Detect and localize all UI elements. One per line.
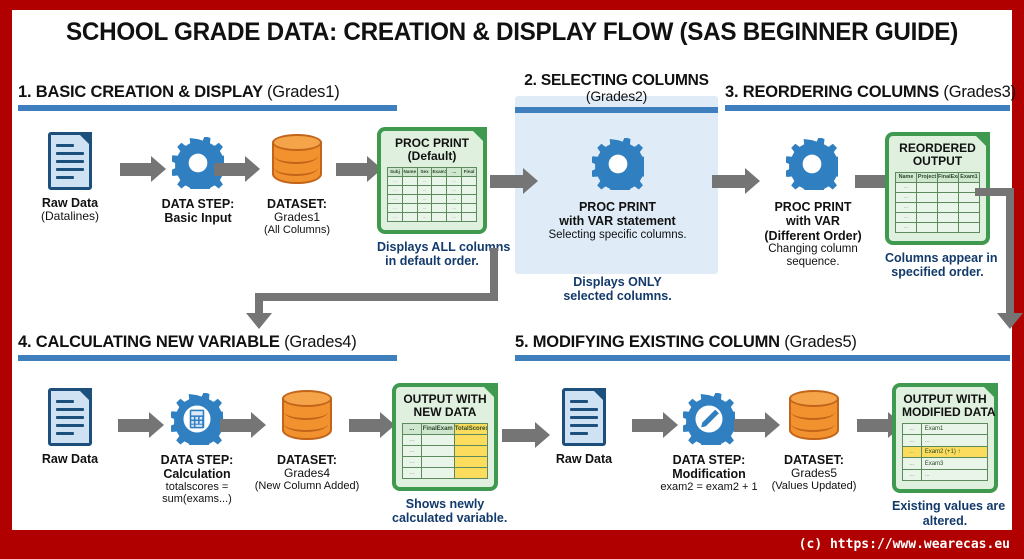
output-note-line1: Columns appear in [885, 251, 998, 265]
table-row: ... [896, 212, 980, 222]
table-header-row: Subj Name Sex Exam1 ... Final [388, 167, 477, 176]
node-label: Raw Data [42, 452, 98, 466]
gear-calculator-icon [171, 393, 223, 445]
node-data-step-calculation[interactable]: DATA STEP: Calculation totalscores = sum… [145, 393, 249, 506]
arrow-to-section-3 [712, 168, 760, 195]
row-value: Exam3 [921, 458, 987, 470]
node-dataset-grades5[interactable]: DATASET: Grades5 (Values Updated) [762, 390, 866, 493]
section-3-number: 3. [725, 83, 738, 101]
output-table-4: ... FinalExam TotalScores ... ... ... ..… [402, 423, 488, 479]
node-label: DATASET: [277, 453, 337, 467]
node-raw-data-4[interactable]: Raw Data [26, 388, 114, 466]
node-raw-data-1[interactable]: Raw Data (Datalines) [26, 132, 114, 223]
output-title-line2: (Default) [408, 149, 457, 163]
output-note-line2: specified order. [891, 265, 983, 279]
section-3-dataset-tag: (Grades3) [943, 83, 1015, 101]
output-table-1: Subj Name Sex Exam1 ... Final ......... … [387, 167, 477, 222]
output-note-line1: Existing values are [892, 499, 1005, 513]
document-icon [48, 388, 92, 446]
output-title-line1: OUTPUT WITH [903, 392, 986, 406]
proc-line1: PROC PRINT [774, 200, 851, 214]
output-note-line2: calculated variable. [392, 511, 507, 525]
section-2-note: Displays ONLY selected columns. [525, 275, 710, 304]
col-project: Project [917, 172, 938, 182]
section-3-rule [725, 105, 1010, 111]
table-row: ... ... [903, 435, 988, 447]
section-1-heading: 1. BASIC CREATION & DISPLAY (Grades1) [18, 83, 397, 111]
section-4-number: 4. [18, 333, 31, 351]
output-note-line2: altered. [923, 514, 967, 528]
row-index: ... [903, 423, 922, 435]
connector-1-to-4-vertical-left [255, 293, 263, 315]
footer-credit: (c) https://www.wearecas.eu [0, 530, 1024, 559]
section-3-title: REORDERING COLUMNS [743, 83, 939, 101]
section-1-rule [18, 105, 397, 111]
section-2-number: 2. [524, 72, 537, 89]
col-exam1: Exam1 [959, 172, 980, 182]
node-sublabel-2: (New Column Added) [252, 480, 362, 492]
row-value: ... [921, 435, 987, 447]
node-sublabel: Grades1 [250, 211, 344, 224]
document-icon [562, 388, 606, 446]
section-2-title: SELECTING COLUMNS [541, 72, 709, 89]
table-row: ......... [388, 176, 477, 185]
table-row-highlighted: ... Exam2 (+1) ↑ [903, 446, 988, 458]
node-sublabel-2: totalscores = [145, 481, 249, 493]
database-icon [282, 390, 332, 446]
arrow-1c [336, 156, 382, 183]
page-title: SCHOOL GRADE DATA: CREATION & DISPLAY FL… [27, 18, 997, 47]
output-title-line2: NEW DATA [414, 405, 477, 419]
col-subj: Subj [388, 167, 403, 176]
output-new-data[interactable]: OUTPUT WITH NEW DATA ... FinalExam Total… [392, 383, 498, 526]
section-1-dataset-tag: (Grades1) [267, 83, 339, 101]
proc-line4: Changing column [747, 243, 879, 256]
node-proc-print-var-order[interactable] [762, 138, 862, 198]
node-label: DATASET: [784, 453, 844, 467]
row-value: Exam1 [921, 423, 987, 435]
footer-text: (c) https://www.wearecas.eu [799, 537, 1010, 552]
section-2-dataset-tag: (Grades2) [515, 89, 718, 104]
node-sublabel: Grades5 [762, 467, 866, 480]
col-sex: Sex [417, 167, 432, 176]
col-exam1: Exam1 [432, 167, 447, 176]
table-row: ... [403, 456, 488, 467]
table-row: ......... [388, 185, 477, 194]
output-title-line2: MODIFIED DATA [902, 405, 996, 419]
section-5-title: MODIFYING EXISTING COLUMN [533, 333, 780, 351]
section-5-rule [515, 355, 1010, 361]
node-data-step-modification[interactable]: DATA STEP: Modification exam2 = exam2 + … [652, 393, 766, 493]
section-4-heading: 4. CALCULATING NEW VARIABLE (Grades4) [18, 333, 397, 361]
section-2-rule [515, 107, 718, 113]
gear-icon [592, 138, 644, 190]
row-index: ... [903, 446, 922, 458]
table-row: ......... [388, 212, 477, 221]
table-header-row: ... FinalExam TotalScores [403, 423, 488, 434]
poster-canvas: SCHOOL GRADE DATA: CREATION & DISPLAY FL… [12, 10, 1012, 530]
table-row: ... Exam1 [903, 423, 988, 435]
proc-line1: PROC PRINT [579, 200, 656, 214]
table-row: ... ... [903, 469, 988, 481]
table-row: ... [896, 202, 980, 212]
table-row: ......... [388, 203, 477, 212]
gear-icon [786, 138, 838, 190]
output-title-line1: PROC PRINT [395, 136, 469, 150]
node-sublabel: Basic Input [164, 211, 231, 225]
row-index: ... [903, 435, 922, 447]
connector-1-to-4-arrowhead [246, 313, 272, 329]
node-sublabel: Grades4 [252, 467, 362, 480]
output-note-line1: Shows newly [406, 497, 485, 511]
node-sublabel-2: exam2 = exam2 + 1 [652, 481, 766, 493]
output-title-line2: OUTPUT [913, 154, 962, 168]
node-sublabel: Calculation [163, 467, 230, 481]
table-row: ......... [388, 194, 477, 203]
table-row: ... [403, 467, 488, 478]
output-note-line2: in default order. [385, 254, 479, 268]
node-raw-data-5[interactable]: Raw Data [540, 388, 628, 466]
row-index: ... [903, 469, 922, 481]
output-proc-print-default[interactable]: PROC PRINT (Default) Subj Name Sex Exam1… [377, 127, 487, 269]
node-proc-print-var[interactable] [565, 138, 670, 198]
section-5-dataset-tag: (Grades5) [784, 333, 856, 351]
col-totalscores: TotalScores [454, 423, 487, 434]
table-row: ... [896, 222, 980, 232]
row-value: ... [921, 469, 987, 481]
node-dataset-grades4[interactable]: DATASET: Grades4 (New Column Added) [252, 390, 362, 493]
poster-frame: SCHOOL GRADE DATA: CREATION & DISPLAY FL… [0, 0, 1024, 559]
row-value: Exam2 (+1) ↑ [921, 446, 987, 458]
section-3-heading: 3. REORDERING COLUMNS (Grades3) [725, 83, 1010, 111]
proc-line3: Selecting specific columns. [525, 229, 710, 242]
connector-3-to-5-vertical [1006, 188, 1014, 316]
section-5-heading: 5. MODIFYING EXISTING COLUMN (Grades5) [515, 333, 1010, 361]
section-4-dataset-tag: (Grades4) [284, 333, 356, 351]
node-sublabel-2: (All Columns) [250, 224, 344, 236]
database-icon [789, 390, 839, 446]
col-ellipsis: ... [447, 167, 462, 176]
table-row: ... [896, 182, 980, 192]
node-label: DATA STEP: [161, 453, 234, 467]
proc-line2: with VAR [786, 214, 840, 228]
section-5-number: 5. [515, 333, 528, 351]
output-table-3: Name Project FinalExam Exam1 ... ... ...… [895, 172, 980, 233]
proc-line2: with VAR statement [559, 214, 675, 228]
col-name: Name [402, 167, 417, 176]
node-sublabel-2: (Values Updated) [762, 480, 866, 492]
output-table-5: ... Exam1 ... ... ... Exam2 (+1) ↑ ... [902, 423, 988, 482]
row-index: ... [903, 458, 922, 470]
section-1-title: BASIC CREATION & DISPLAY [36, 83, 263, 101]
section-1-number: 1. [18, 83, 31, 101]
node-label: Raw Data [42, 196, 98, 210]
connector-3-to-5-arrowhead [997, 313, 1023, 329]
table-header-row: Name Project FinalExam Exam1 [896, 172, 980, 182]
output-reordered[interactable]: REORDERED OUTPUT Name Project FinalExam … [885, 132, 990, 280]
col-ellipsis: ... [403, 423, 422, 434]
section-4-title: CALCULATING NEW VARIABLE [36, 333, 280, 351]
table-row: ... [403, 445, 488, 456]
proc-line3: (Different Order) [764, 229, 861, 243]
connector-1-to-4-horizontal [255, 293, 498, 301]
output-title-line1: REORDERED [899, 141, 976, 155]
col-name: Name [896, 172, 917, 182]
node-label: DATA STEP: [162, 197, 235, 211]
gear-pencil-icon [683, 393, 735, 445]
table-row: ... [896, 192, 980, 202]
node-sublabel: (Datalines) [26, 210, 114, 223]
col-finalexam: FinalExam [421, 423, 454, 434]
output-title-line1: OUTPUT WITH [403, 392, 486, 406]
document-icon [48, 132, 92, 190]
col-final: Final [462, 167, 477, 176]
connector-1-to-4-vertical-right [490, 248, 498, 298]
node-label: DATA STEP: [673, 453, 746, 467]
arrow-4c [349, 412, 395, 439]
note-line2: selected columns. [563, 289, 671, 303]
section-4-rule [18, 355, 397, 361]
section-2-proc-label: PROC PRINT with VAR statement Selecting … [525, 200, 710, 242]
node-label: Raw Data [556, 452, 612, 466]
node-sublabel-3: sum(exams...) [145, 493, 249, 505]
table-row: ... [403, 434, 488, 445]
node-sublabel: Modification [672, 467, 746, 481]
section-2-heading: 2. SELECTING COLUMNS (Grades2) [515, 73, 718, 113]
col-finalexam: FinalExam [938, 172, 959, 182]
proc-line5: sequence. [747, 256, 879, 269]
node-label: DATASET: [267, 197, 327, 211]
arrow-to-section-2 [490, 168, 538, 195]
section-3-proc-label: PROC PRINT with VAR (Different Order) Ch… [747, 200, 879, 270]
table-row: ... Exam3 [903, 458, 988, 470]
node-dataset-grades1[interactable]: DATASET: Grades1 (All Columns) [250, 134, 344, 237]
output-modified-data[interactable]: OUTPUT WITH MODIFIED DATA ... Exam1 ... … [892, 383, 998, 528]
note-line1: Displays ONLY [573, 275, 661, 289]
database-icon [272, 134, 322, 190]
